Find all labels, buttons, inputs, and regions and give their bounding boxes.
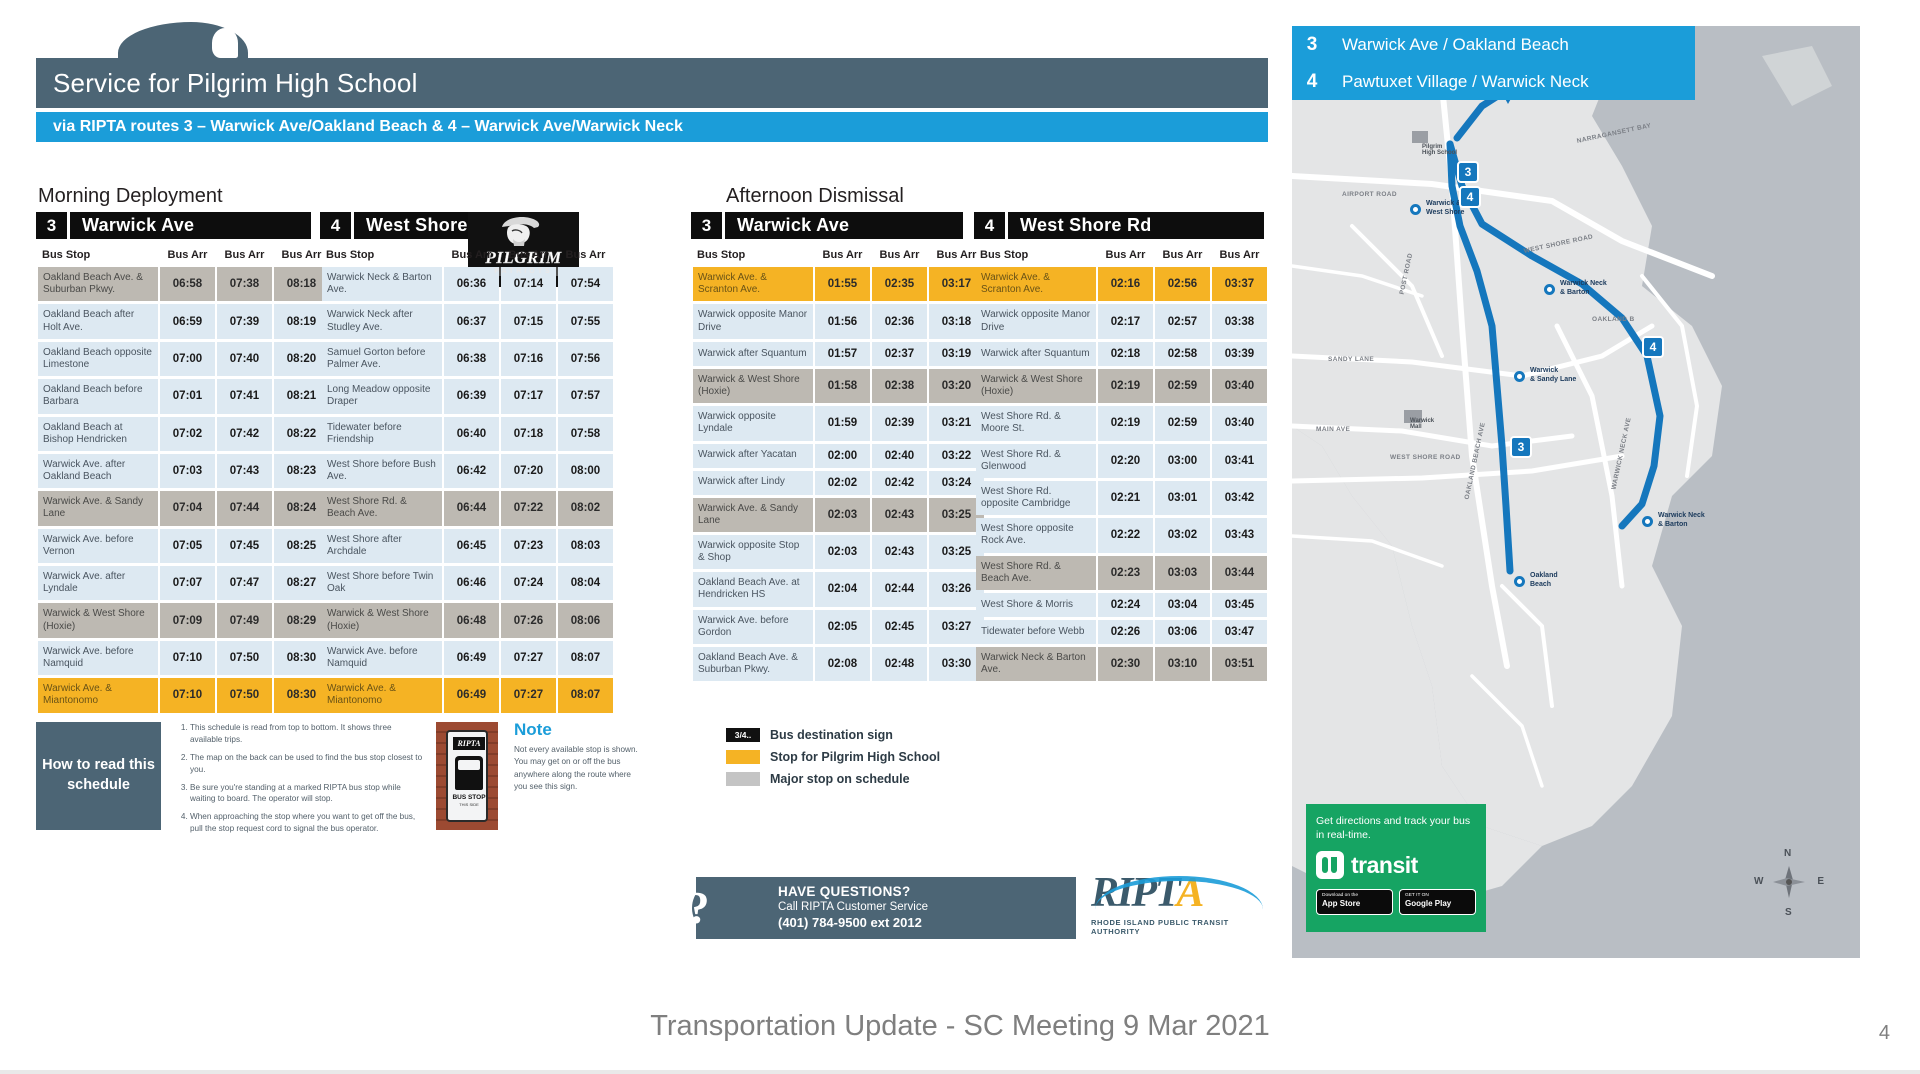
arrival-time: 02:57: [1155, 304, 1210, 338]
arrival-time: 08:03: [558, 529, 613, 563]
questions-line2: (401) 784-9500 ext 2012: [778, 915, 928, 930]
map-road-label: POST ROAD: [1399, 252, 1415, 295]
table-row: Oakland Beach Ave. & Suburban Pkwy.06:58…: [38, 267, 329, 301]
sign-sublabel: THIS SIDE: [448, 802, 490, 807]
stop-name: West Shore Rd. opposite Cambridge: [976, 481, 1096, 515]
arrival-time: 02:37: [872, 342, 927, 366]
stop-name: Warwick after Yacatan: [693, 444, 813, 468]
map-road-label: WEST SHORE ROAD: [1523, 233, 1594, 255]
arrival-time: 07:01: [160, 379, 215, 413]
map-poi-label: Pilgrim High School: [1422, 144, 1457, 156]
arrival-time: 03:37: [1212, 267, 1267, 301]
table-row: Warwick Neck & Barton Ave.02:3003:1003:5…: [976, 647, 1267, 681]
stop-name: Warwick & West Shore (Hoxie): [322, 603, 442, 637]
arrival-time: 07:20: [501, 454, 556, 488]
arrival-time: 07:38: [217, 267, 272, 301]
arrival-time: 02:26: [1098, 620, 1153, 644]
arrival-time: 02:23: [1098, 556, 1153, 590]
transit-promo-text: Get directions and track your bus in rea…: [1316, 814, 1476, 842]
compass-north: N: [1784, 848, 1791, 859]
arrival-time: 07:17: [501, 379, 556, 413]
stop-name: West Shore Rd. & Moore St.: [976, 406, 1096, 440]
arrival-time: 02:43: [872, 535, 927, 569]
arrival-time: 03:10: [1155, 647, 1210, 681]
arrival-time: 07:24: [501, 566, 556, 600]
map-road-label: SANDY LANE: [1328, 356, 1374, 363]
how-to-read-steps: This schedule is read from top to bottom…: [176, 722, 426, 841]
legend-row: 3/4..Bus destination sign: [726, 728, 1026, 742]
arrival-time: 07:22: [501, 491, 556, 525]
slide-page-number: 4: [1879, 1022, 1890, 1045]
map-road-label: MAIN AVE: [1316, 426, 1350, 433]
map-legend-name: Warwick Ave / Oakland Beach: [1332, 35, 1569, 55]
arrival-time: 07:10: [160, 641, 215, 675]
table-row: Oakland Beach Ave. & Suburban Pkwy.02:08…: [693, 647, 984, 681]
table-row: Warwick Ave. before Namquid06:4907:2708:…: [322, 641, 613, 675]
arrival-time: 08:07: [558, 641, 613, 675]
arrival-time: 03:51: [1212, 647, 1267, 681]
map-stop-label: Oakland Beach: [1530, 572, 1558, 590]
stop-name: West Shore after Archdale: [322, 529, 442, 563]
arrival-time: 07:18: [501, 417, 556, 451]
table-row: Warwick Ave. & Scranton Ave.01:5502:3503…: [693, 267, 984, 301]
stop-name: Warwick Ave. & Sandy Lane: [693, 498, 813, 532]
arrival-time: 03:00: [1155, 444, 1210, 478]
map-legend: 3/4..Bus destination signStop for Pilgri…: [726, 728, 1026, 794]
legend-row: Stop for Pilgrim High School: [726, 750, 1026, 764]
arrival-time: 03:41: [1212, 444, 1267, 478]
table-row: Warwick after Squantum02:1802:5803:39: [976, 342, 1267, 366]
table-row: Long Meadow opposite Draper06:3907:1707:…: [322, 379, 613, 413]
stop-name: Long Meadow opposite Draper: [322, 379, 442, 413]
col-bus-arr: Bus Arr: [558, 247, 613, 264]
route-name: Warwick Ave: [725, 215, 849, 236]
legend-label: Bus destination sign: [770, 728, 893, 742]
map-route-marker-3[interactable]: 3: [1510, 436, 1532, 458]
stop-name: Warwick Ave. after Oakland Beach: [38, 454, 158, 488]
route-header-afternoon-4: 4 West Shore Rd: [974, 212, 1264, 239]
map-road-label: WARWICK NECK AVE: [1611, 417, 1633, 490]
table-row: Tidewater before Webb02:2603:0603:47: [976, 620, 1267, 644]
arrival-time: 02:08: [815, 647, 870, 681]
stop-name: Warwick opposite Manor Drive: [693, 304, 813, 338]
note-body: Not every available stop is shown. You m…: [514, 744, 639, 793]
stop-name: Warwick Ave. before Gordon: [693, 610, 813, 644]
stop-name: West Shore & Morris: [976, 593, 1096, 617]
arrival-time: 02:18: [1098, 342, 1153, 366]
map-legend-row-4: 4Pawtuxet Village / Warwick Neck: [1292, 63, 1695, 100]
arrival-time: 02:00: [815, 444, 870, 468]
arrival-time: 07:02: [160, 417, 215, 451]
route-number: 4: [974, 212, 1008, 239]
transit-app-icon: [1316, 851, 1344, 879]
app-store-badge[interactable]: GET IT ONGoogle Play: [1399, 889, 1476, 915]
table-row: Oakland Beach before Barbara07:0107:4108…: [38, 379, 329, 413]
arrival-time: 01:56: [815, 304, 870, 338]
table-row: Warwick Ave. before Vernon07:0507:4508:2…: [38, 529, 329, 563]
table-row: West Shore before Twin Oak06:4607:2408:0…: [322, 566, 613, 600]
map-stop-dot[interactable]: [1514, 576, 1525, 587]
arrival-time: 02:39: [872, 406, 927, 440]
arrival-time: 02:21: [1098, 481, 1153, 515]
legend-swatch-major: [726, 772, 760, 786]
arrival-time: 07:40: [217, 342, 272, 376]
table-row: Warwick Ave. before Gordon02:0502:4503:2…: [693, 610, 984, 644]
arrival-time: 07:50: [217, 641, 272, 675]
ripta-sign-brand: RIPTA: [453, 737, 485, 750]
how-to-step: The map on the back can be used to find …: [190, 752, 426, 776]
stop-name: Oakland Beach Ave. & Suburban Pkwy.: [693, 647, 813, 681]
table-row: Oakland Beach Ave. at Hendricken HS02:04…: [693, 572, 984, 606]
arrival-time: 01:57: [815, 342, 870, 366]
table-row: Warwick after Yacatan02:0002:4003:22: [693, 444, 984, 468]
stop-name: Warwick Ave. & Sandy Lane: [38, 491, 158, 525]
map-legend-row-3: 3Warwick Ave / Oakland Beach: [1292, 26, 1695, 63]
app-store-badges: Download on theApp StoreGET IT ONGoogle …: [1316, 889, 1476, 915]
stop-name: West Shore Rd. & Beach Ave.: [322, 491, 442, 525]
sheet-title-bar: Service for Pilgrim High School: [36, 58, 1268, 108]
transit-brand: transit: [1316, 851, 1476, 879]
map-road-label: OAKLAND B: [1592, 316, 1635, 323]
map-route-marker-3[interactable]: 3: [1457, 161, 1479, 183]
arrival-time: 07:00: [160, 342, 215, 376]
stop-name: Warwick opposite Lyndale: [693, 406, 813, 440]
col-bus-arr: Bus Arr: [501, 247, 556, 264]
arrival-time: 07:50: [217, 678, 272, 712]
table-row: Warwick Ave. & Miantonomo07:1007:5008:30: [38, 678, 329, 712]
stop-name: Warwick Ave. & Miantonomo: [38, 678, 158, 712]
sign-label: BUS STOP: [448, 794, 490, 801]
arrival-time: 07:45: [217, 529, 272, 563]
map-stop-dot[interactable]: [1514, 371, 1525, 382]
col-bus-stop: Bus Stop: [322, 247, 442, 264]
question-mark-icon: ?: [670, 880, 726, 936]
how-to-read-title: How to read this schedule: [36, 756, 161, 795]
stop-name: West Shore before Bush Ave.: [322, 454, 442, 488]
arrival-time: 07:58: [558, 417, 613, 451]
note-block: Note Not every available stop is shown. …: [514, 720, 639, 793]
sign-plate: RIPTA BUS STOP THIS SIDE: [446, 730, 488, 822]
arrival-time: 03:03: [1155, 556, 1210, 590]
arrival-time: 02:02: [815, 471, 870, 495]
stop-name: Warwick & West Shore (Hoxie): [38, 603, 158, 637]
arrival-time: 06:39: [444, 379, 499, 413]
arrival-time: 03:06: [1155, 620, 1210, 644]
table-row: Warwick after Lindy02:0202:4203:24: [693, 471, 984, 495]
arrival-time: 07:03: [160, 454, 215, 488]
table-row: Warwick & West Shore (Hoxie)07:0907:4908…: [38, 603, 329, 637]
col-bus-stop: Bus Stop: [38, 247, 158, 264]
arrival-time: 07:39: [217, 304, 272, 338]
compass-rose: N S W E: [1756, 850, 1822, 916]
route-number: 3: [691, 212, 725, 239]
stop-name: Warwick Ave. before Namquid: [322, 641, 442, 675]
arrival-time: 03:39: [1212, 342, 1267, 366]
arrival-time: 01:58: [815, 369, 870, 403]
stop-name: Tidewater before Friendship: [322, 417, 442, 451]
col-bus-stop: Bus Stop: [693, 247, 813, 264]
bus-icon: [455, 756, 483, 790]
arrival-time: 06:37: [444, 304, 499, 338]
arrival-time: 02:22: [1098, 518, 1153, 552]
table-row: Samuel Gorton before Palmer Ave.06:3807:…: [322, 342, 613, 376]
arrival-time: 07:47: [217, 566, 272, 600]
table-row: Oakland Beach after Holt Ave.06:5907:390…: [38, 304, 329, 338]
arrival-time: 06:44: [444, 491, 499, 525]
col-bus-arr: Bus Arr: [1098, 247, 1153, 264]
col-bus-arr: Bus Arr: [160, 247, 215, 264]
arrival-time: 07:27: [501, 678, 556, 712]
col-bus-arr: Bus Arr: [815, 247, 870, 264]
arrival-time: 03:44: [1212, 556, 1267, 590]
compass-west: W: [1754, 876, 1763, 887]
stop-name: Warwick opposite Stop & Shop: [693, 535, 813, 569]
stop-name: Warwick Ave. & Miantonomo: [322, 678, 442, 712]
stop-name: Warwick Ave. after Lyndale: [38, 566, 158, 600]
table-row: Warwick opposite Lyndale01:5902:3903:21: [693, 406, 984, 440]
stop-name: Warwick opposite Manor Drive: [976, 304, 1096, 338]
stop-name: West Shore Rd. & Beach Ave.: [976, 556, 1096, 590]
arrival-time: 02:35: [872, 267, 927, 301]
questions-line1: Call RIPTA Customer Service: [778, 901, 928, 913]
arrival-time: 02:56: [1155, 267, 1210, 301]
stop-name: Warwick Ave. & Scranton Ave.: [693, 267, 813, 301]
legend-label: Stop for Pilgrim High School: [770, 750, 940, 764]
have-questions-banner: ? HAVE QUESTIONS? Call RIPTA Customer Se…: [696, 877, 1076, 939]
slide-canvas: Service for Pilgrim High School via RIPT…: [0, 0, 1920, 1074]
col-bus-arr: Bus Arr: [1212, 247, 1267, 264]
table-row: Warwick & West Shore (Hoxie)06:4807:2608…: [322, 603, 613, 637]
col-bus-arr: Bus Arr: [1155, 247, 1210, 264]
stop-name: Oakland Beach Ave. at Hendricken HS: [693, 572, 813, 606]
table-row: West Shore Rd. & Beach Ave.06:4407:2208:…: [322, 491, 613, 525]
stop-name: Oakland Beach opposite Limestone: [38, 342, 158, 376]
arrival-time: 06:58: [160, 267, 215, 301]
route-name: West Shore Rd: [1008, 215, 1152, 236]
arrival-time: 06:45: [444, 529, 499, 563]
map-stop-label: Warwick Neck & Barton: [1658, 512, 1705, 530]
arrival-time: 03:40: [1212, 406, 1267, 440]
arrival-time: 02:44: [872, 572, 927, 606]
stop-name: West Shore opposite Rock Ave.: [976, 518, 1096, 552]
table-row: Warwick Ave. & Sandy Lane02:0302:4303:25: [693, 498, 984, 532]
morning-section-title: Morning Deployment: [38, 185, 223, 208]
map-road-label: NARRAGANSETT BAY: [1576, 122, 1652, 145]
map-legend-name: Pawtuxet Village / Warwick Neck: [1332, 72, 1589, 92]
table-row: Oakland Beach opposite Limestone07:0007:…: [38, 342, 329, 376]
table-row: Warwick Ave. & Miantonomo06:4907:2708:07: [322, 678, 613, 712]
arrival-time: 02:30: [1098, 647, 1153, 681]
arrival-time: 07:26: [501, 603, 556, 637]
ripta-tagline: RHODE ISLAND PUBLIC TRANSIT AUTHORITY: [1091, 918, 1271, 936]
route-number: 3: [36, 212, 70, 239]
stop-name: Warwick Neck & Barton Ave.: [322, 267, 442, 301]
legend-row: Major stop on schedule: [726, 772, 1026, 786]
table-row: West Shore before Bush Ave.06:4207:2008:…: [322, 454, 613, 488]
stop-name: Samuel Gorton before Palmer Ave.: [322, 342, 442, 376]
store-badge-name: App Store: [1322, 899, 1387, 909]
stop-name: Tidewater before Webb: [976, 620, 1096, 644]
stop-name: Oakland Beach before Barbara: [38, 379, 158, 413]
arrival-time: 02:16: [1098, 267, 1153, 301]
arrival-time: 08:04: [558, 566, 613, 600]
arrival-time: 06:59: [160, 304, 215, 338]
table-row: Warwick opposite Manor Drive01:5602:3603…: [693, 304, 984, 338]
how-to-step: Be sure you're standing at a marked RIPT…: [190, 782, 426, 806]
map-stop-dot[interactable]: [1642, 516, 1653, 527]
stop-name: Warwick Neck after Studley Ave.: [322, 304, 442, 338]
sheet-subtitle-bar: via RIPTA routes 3 – Warwick Ave/Oakland…: [36, 112, 1268, 142]
table-row: Warwick Ave. & Sandy Lane07:0407:4408:24: [38, 491, 329, 525]
legend-swatch-dest: 3/4..: [726, 728, 760, 742]
stop-name: Warwick & West Shore (Hoxie): [976, 369, 1096, 403]
arrival-time: 03:38: [1212, 304, 1267, 338]
arrival-time: 07:04: [160, 491, 215, 525]
arrival-time: 07:27: [501, 641, 556, 675]
arrival-time: 06:38: [444, 342, 499, 376]
arrival-time: 07:44: [217, 491, 272, 525]
arrival-time: 07:07: [160, 566, 215, 600]
map-legend-number: 3: [1292, 34, 1332, 56]
arrival-time: 07:43: [217, 454, 272, 488]
stop-name: Warwick Ave. before Vernon: [38, 529, 158, 563]
stop-name: Warwick & West Shore (Hoxie): [693, 369, 813, 403]
table-row: West Shore Rd. & Moore St.02:1902:5903:4…: [976, 406, 1267, 440]
map-route-legend-header: 3Warwick Ave / Oakland Beach4Pawtuxet Vi…: [1292, 26, 1695, 100]
table-row: Warwick opposite Manor Drive02:1702:5703…: [976, 304, 1267, 338]
arrival-time: 03:02: [1155, 518, 1210, 552]
arrival-time: 06:46: [444, 566, 499, 600]
arrival-time: 07:16: [501, 342, 556, 376]
map-stop-label: Warwick & Sandy Lane: [1530, 367, 1576, 385]
stop-name: Oakland Beach after Holt Ave.: [38, 304, 158, 338]
table-row: Warwick Ave. before Namquid07:1007:5008:…: [38, 641, 329, 675]
table-row: Warwick Neck after Studley Ave.06:3707:1…: [322, 304, 613, 338]
table-row: West Shore & Morris02:2403:0403:45: [976, 593, 1267, 617]
compass-south: S: [1785, 907, 1792, 918]
map-route-marker-4[interactable]: 4: [1642, 336, 1664, 358]
table-row: Warwick Ave. after Lyndale07:0707:4708:2…: [38, 566, 329, 600]
table-row: West Shore Rd. & Glenwood02:2003:0003:41: [976, 444, 1267, 478]
sheet-subtitle: via RIPTA routes 3 – Warwick Ave/Oakland…: [36, 118, 683, 136]
arrival-time: 08:02: [558, 491, 613, 525]
table-row: West Shore Rd. & Beach Ave.02:2303:0303:…: [976, 556, 1267, 590]
map-stop-label: Warwick Neck & Barton: [1560, 280, 1607, 298]
map-road-label: AIRPORT ROAD: [1342, 191, 1397, 198]
arrival-time: 02:36: [872, 304, 927, 338]
table-row: Warwick after Squantum01:5702:3703:19: [693, 342, 984, 366]
table-row: Warwick & West Shore (Hoxie)01:5802:3803…: [693, 369, 984, 403]
arrival-time: 07:10: [160, 678, 215, 712]
arrival-time: 02:19: [1098, 406, 1153, 440]
arrival-time: 02:45: [872, 610, 927, 644]
arrival-time: 06:49: [444, 678, 499, 712]
arrival-time: 07:15: [501, 304, 556, 338]
stop-name: Oakland Beach at Bishop Hendricken: [38, 417, 158, 451]
table-row: West Shore opposite Rock Ave.02:2203:020…: [976, 518, 1267, 552]
stop-name: Oakland Beach Ave. & Suburban Pkwy.: [38, 267, 158, 301]
map-stop-dot[interactable]: [1410, 204, 1421, 215]
how-to-step: This schedule is read from top to bottom…: [190, 722, 426, 746]
table-row: Warwick Ave. after Oakland Beach07:0307:…: [38, 454, 329, 488]
schedule-sheet: Service for Pilgrim High School via RIPT…: [36, 22, 1276, 962]
ripta-logo: RIPTA RHODE ISLAND PUBLIC TRANSIT AUTHOR…: [1091, 870, 1271, 942]
arrival-time: 02:59: [1155, 369, 1210, 403]
stop-name: Warwick after Squantum: [693, 342, 813, 366]
patriots-wordmark: PATRIOTS: [468, 268, 579, 275]
map-route-marker-4[interactable]: 4: [1459, 186, 1481, 208]
arrival-time: 02:48: [872, 647, 927, 681]
table-morning-route-3: Bus StopBus ArrBus ArrBus ArrOakland Bea…: [36, 244, 331, 716]
how-to-read-box: How to read this schedule: [36, 722, 161, 830]
arrival-time: 02:03: [815, 498, 870, 532]
arrival-time: 01:55: [815, 267, 870, 301]
arrival-time: 06:42: [444, 454, 499, 488]
arrival-time: 07:42: [217, 417, 272, 451]
slide-footer-title: Transportation Update - SC Meeting 9 Mar…: [0, 1010, 1920, 1043]
arrival-time: 03:42: [1212, 481, 1267, 515]
transit-app-promo: Get directions and track your bus in rea…: [1306, 804, 1486, 932]
map-road-label: WEST SHORE ROAD: [1390, 454, 1461, 461]
bottom-divider: [0, 1070, 1920, 1074]
arrival-time: 02:20: [1098, 444, 1153, 478]
stop-name: Warwick after Lindy: [693, 471, 813, 495]
bus-stop-sign-photo: RIPTA BUS STOP THIS SIDE: [436, 722, 498, 830]
arrival-time: 06:40: [444, 417, 499, 451]
legend-swatch-school: [726, 750, 760, 764]
arrival-time: 07:57: [558, 379, 613, 413]
table-row: Warwick & West Shore (Hoxie)02:1902:5903…: [976, 369, 1267, 403]
arrival-time: 07:41: [217, 379, 272, 413]
arrival-time: 02:03: [815, 535, 870, 569]
arrival-time: 02:17: [1098, 304, 1153, 338]
arrival-time: 02:42: [872, 471, 927, 495]
arrival-time: 07:55: [558, 304, 613, 338]
table-afternoon-route-3: Bus StopBus ArrBus ArrBus ArrWarwick Ave…: [691, 244, 986, 684]
stop-name: Warwick Ave. & Scranton Ave.: [976, 267, 1096, 301]
map-poi-label: Warwick Mall: [1410, 418, 1434, 430]
col-bus-arr: Bus Arr: [444, 247, 499, 264]
arrival-time: 02:38: [872, 369, 927, 403]
arrival-time: 02:19: [1098, 369, 1153, 403]
arrival-time: 02:40: [872, 444, 927, 468]
arrival-time: 02:04: [815, 572, 870, 606]
stop-name: West Shore Rd. & Glenwood: [976, 444, 1096, 478]
arrival-time: 08:06: [558, 603, 613, 637]
col-bus-arr: Bus Arr: [217, 247, 272, 264]
map-legend-number: 4: [1292, 71, 1332, 93]
arrival-time: 03:43: [1212, 518, 1267, 552]
stop-name: Warwick Ave. before Namquid: [38, 641, 158, 675]
table-afternoon-route-4: Bus StopBus ArrBus ArrBus ArrWarwick Ave…: [974, 244, 1269, 684]
arrival-time: 07:09: [160, 603, 215, 637]
stop-name: Warwick after Squantum: [976, 342, 1096, 366]
arrival-time: 03:47: [1212, 620, 1267, 644]
arrival-time: 02:58: [1155, 342, 1210, 366]
arrival-time: 03:04: [1155, 593, 1210, 617]
legend-label: Major stop on schedule: [770, 772, 910, 786]
arrival-time: 02:05: [815, 610, 870, 644]
questions-heading: HAVE QUESTIONS?: [778, 884, 928, 899]
arrival-time: 03:45: [1212, 593, 1267, 617]
route-header-afternoon-3: 3 Warwick Ave: [691, 212, 963, 239]
arrival-time: 07:49: [217, 603, 272, 637]
map-stop-dot[interactable]: [1544, 284, 1555, 295]
app-store-badge[interactable]: Download on theApp Store: [1316, 889, 1393, 915]
arrival-time: 07:05: [160, 529, 215, 563]
compass-east: E: [1817, 876, 1824, 887]
table-row: West Shore after Archdale06:4507:2308:03: [322, 529, 613, 563]
